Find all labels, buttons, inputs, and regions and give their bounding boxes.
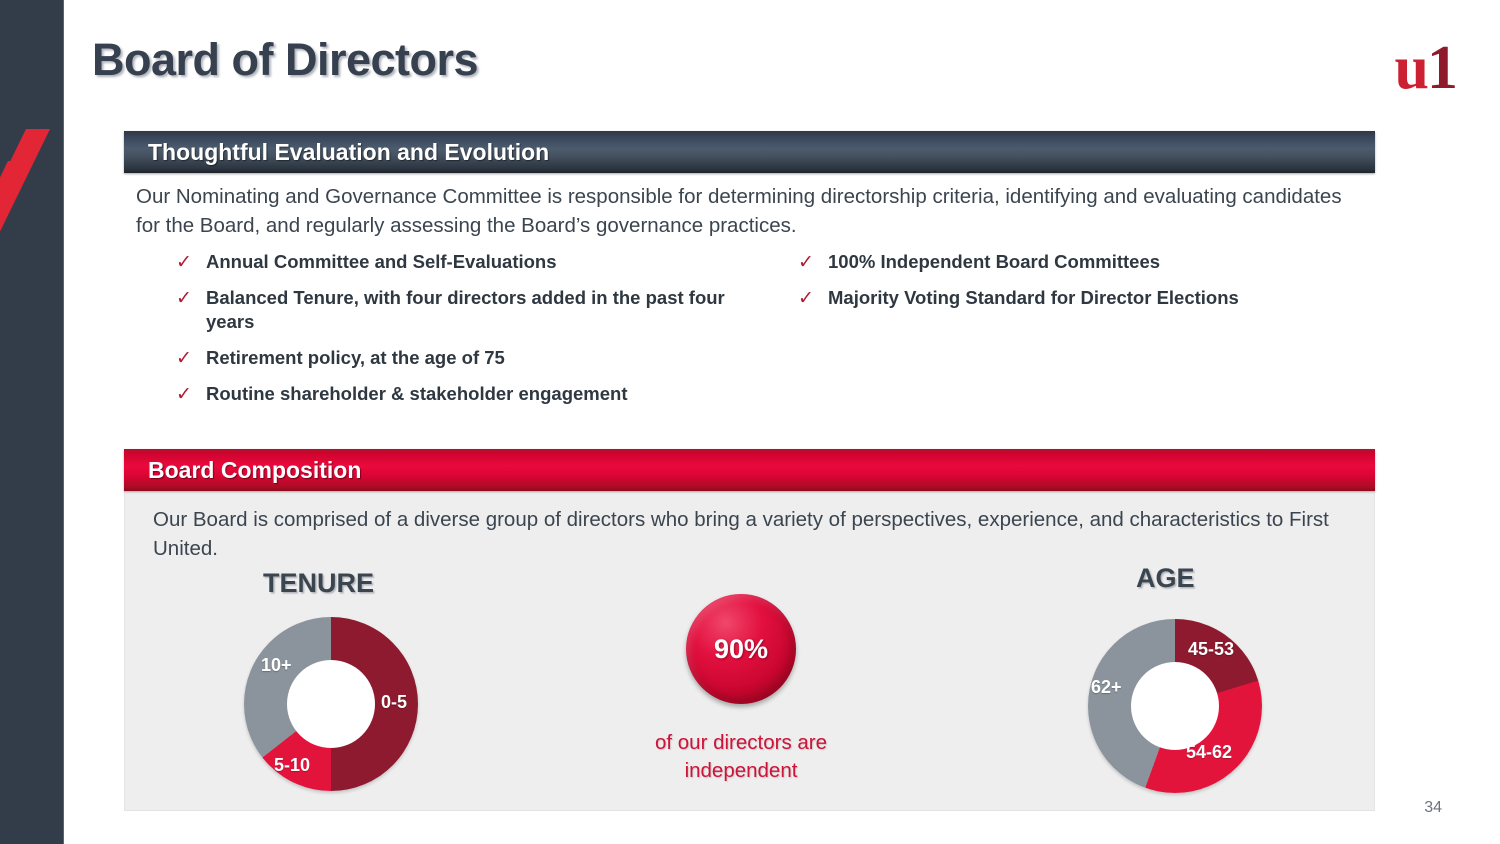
donut-hole xyxy=(287,660,375,748)
donut-slice-label-tenure-10-plus: 10+ xyxy=(261,655,292,676)
page-title: Board of Directors xyxy=(92,34,478,86)
left-sidebar xyxy=(0,0,64,844)
list-item: ✓ Retirement policy, at the age of 75 xyxy=(176,346,776,371)
logo-letter-u: u xyxy=(1395,44,1429,92)
donut-chart-age: 45-53 54-62 62+ xyxy=(1088,619,1262,793)
page-number: 34 xyxy=(1424,799,1442,817)
donut-slice-label-tenure-0-5: 0-5 xyxy=(381,692,407,713)
donut-slice-label-age-45-53: 45-53 xyxy=(1188,639,1234,660)
donut-slice-label-age-54-62: 54-62 xyxy=(1186,742,1232,763)
donut-hole xyxy=(1131,662,1219,750)
independent-directors-stat: 90% of our directors are independent xyxy=(634,594,848,785)
list-item: ✓ Balanced Tenure, with four directors a… xyxy=(176,286,776,335)
list-item-label: Annual Committee and Self-Evaluations xyxy=(206,250,557,274)
section-header-composition-label: Board Composition xyxy=(148,457,361,484)
donut-chart-tenure: 0-5 5-10 10+ xyxy=(244,617,418,791)
independent-percent-value: 90% xyxy=(714,634,768,665)
check-icon: ✓ xyxy=(176,346,206,371)
check-icon: ✓ xyxy=(798,250,828,275)
bullet-column-left: ✓ Annual Committee and Self-Evaluations … xyxy=(176,250,776,418)
list-item-label: 100% Independent Board Committees xyxy=(828,250,1160,274)
bullet-column-right: ✓ 100% Independent Board Committees ✓ Ma… xyxy=(776,250,1358,418)
evaluation-bullet-grid: ✓ Annual Committee and Self-Evaluations … xyxy=(176,250,1366,418)
evaluation-paragraph: Our Nominating and Governance Committee … xyxy=(136,182,1364,240)
company-logo: u 1 xyxy=(1395,40,1458,92)
chart-title-tenure: TENURE xyxy=(263,568,374,599)
independent-percent-circle: 90% xyxy=(686,594,796,704)
list-item: ✓ Routine shareholder & stakeholder enga… xyxy=(176,382,776,407)
list-item-label: Majority Voting Standard for Director El… xyxy=(828,286,1239,310)
slide-board-of-directors: Board of Directors u 1 Thoughtful Evalua… xyxy=(0,0,1500,844)
check-icon: ✓ xyxy=(176,382,206,407)
independent-caption: of our directors are independent xyxy=(634,729,848,785)
check-icon: ✓ xyxy=(798,286,828,311)
list-item-label: Routine shareholder & stakeholder engage… xyxy=(206,382,627,406)
section-header-evaluation-label: Thoughtful Evaluation and Evolution xyxy=(148,139,549,166)
list-item-label: Balanced Tenure, with four directors add… xyxy=(206,286,776,335)
section-header-evaluation: Thoughtful Evaluation and Evolution xyxy=(124,131,1375,173)
list-item: ✓ Annual Committee and Self-Evaluations xyxy=(176,250,776,275)
logo-numeral-one: 1 xyxy=(1427,44,1458,92)
donut-slice-label-age-62-plus: 62+ xyxy=(1091,677,1122,698)
check-icon: ✓ xyxy=(176,286,206,311)
composition-paragraph: Our Board is comprised of a diverse grou… xyxy=(153,505,1353,563)
section-header-composition: Board Composition xyxy=(124,449,1375,491)
list-item-label: Retirement policy, at the age of 75 xyxy=(206,346,505,370)
list-item: ✓ Majority Voting Standard for Director … xyxy=(798,286,1358,311)
check-icon: ✓ xyxy=(176,250,206,275)
list-item: ✓ 100% Independent Board Committees xyxy=(798,250,1358,275)
chart-title-age: AGE xyxy=(1136,563,1195,594)
donut-slice-label-tenure-5-10: 5-10 xyxy=(274,755,310,776)
